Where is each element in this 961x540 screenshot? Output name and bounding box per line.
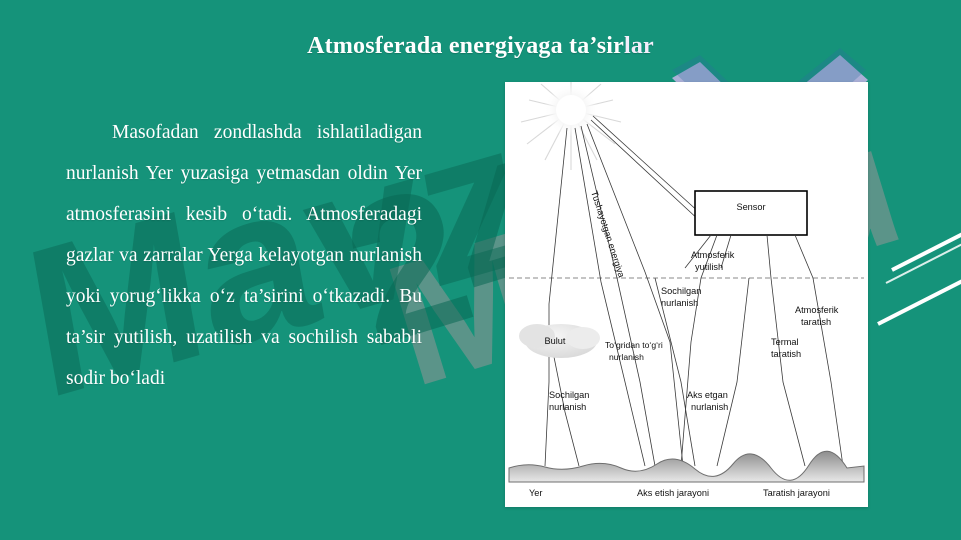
slide-title-tail: lar bbox=[624, 33, 654, 59]
label-line-1: Sochilgan bbox=[549, 390, 589, 400]
incoming-energy-label: Tushayotgan energiya bbox=[589, 190, 627, 280]
body-paragraph: Masofadan zondlashda ishlatiladigan nurl… bbox=[66, 112, 422, 399]
slide-title: Atmosferada energiyaga ta’sirlar bbox=[0, 33, 961, 60]
label-line-1: Sochilgan bbox=[661, 286, 701, 296]
ground-label-taratish-jarayoni: Taratish jarayoni bbox=[763, 488, 830, 498]
atmosphere-energy-diagram: Sensor Tushayotgan energiya bbox=[505, 82, 868, 507]
label-line-2: taratish bbox=[801, 317, 831, 327]
label-line-1: Aks etgan bbox=[687, 390, 728, 400]
diagram-svg: Sensor Tushayotgan energiya bbox=[505, 82, 868, 507]
label-line-2: nurlanish bbox=[609, 352, 644, 362]
label-line-1: Termal bbox=[771, 337, 799, 347]
label-sochilgan-nurlanish-left: Sochilgan nurlanish bbox=[549, 390, 589, 412]
label-line-2: nurlanish bbox=[691, 402, 728, 412]
label-line-2: nurlanish bbox=[549, 402, 586, 412]
label-sochilgan-nurlanish-top: Sochilgan nurlanish bbox=[661, 286, 701, 308]
slide-canvas: Mavzu Mavzu 24 Atmosferada energiyaga ta… bbox=[0, 0, 961, 540]
stripe-3 bbox=[891, 182, 961, 272]
sun-icon bbox=[521, 82, 621, 170]
label-line-2: taratish bbox=[771, 349, 801, 359]
stripe-1 bbox=[877, 236, 961, 326]
sensor-label: Sensor bbox=[736, 202, 765, 212]
label-atmosferik-yutilish: Atmosferik yutilish bbox=[691, 250, 735, 272]
ground-label-aks-etish-jarayoni: Aks etish jarayoni bbox=[637, 488, 709, 498]
cloud-shape: Bulut bbox=[519, 324, 600, 358]
cloud-label: Bulut bbox=[545, 336, 566, 346]
lower-rays-group bbox=[549, 278, 749, 466]
label-togridan-togri-nurlanish: To‘gridan to‘g‘ri nurlanish bbox=[605, 340, 663, 362]
stripe-2 bbox=[886, 196, 961, 284]
label-line-2: nurlanish bbox=[661, 298, 698, 308]
label-termal-taratish: Termal taratish bbox=[771, 337, 801, 359]
label-aks-etgan-nurlanish: Aks etgan nurlanish bbox=[687, 390, 728, 412]
incoming-energy-label-group: Tushayotgan energiya bbox=[589, 190, 627, 280]
label-line-1: Atmosferik bbox=[795, 305, 839, 315]
label-line-1: To‘gridan to‘g‘ri bbox=[605, 340, 663, 350]
slide-title-main: Atmosferada energiyaga ta’sir bbox=[307, 33, 624, 59]
label-line-2: yutilish bbox=[695, 262, 723, 272]
sensor-box: Sensor bbox=[695, 191, 807, 235]
label-line-1: Atmosferik bbox=[691, 250, 735, 260]
label-atmosferik-taratish: Atmosferik taratish bbox=[795, 305, 839, 327]
ground-label-yer: Yer bbox=[529, 488, 542, 498]
ground-surface bbox=[509, 451, 864, 482]
